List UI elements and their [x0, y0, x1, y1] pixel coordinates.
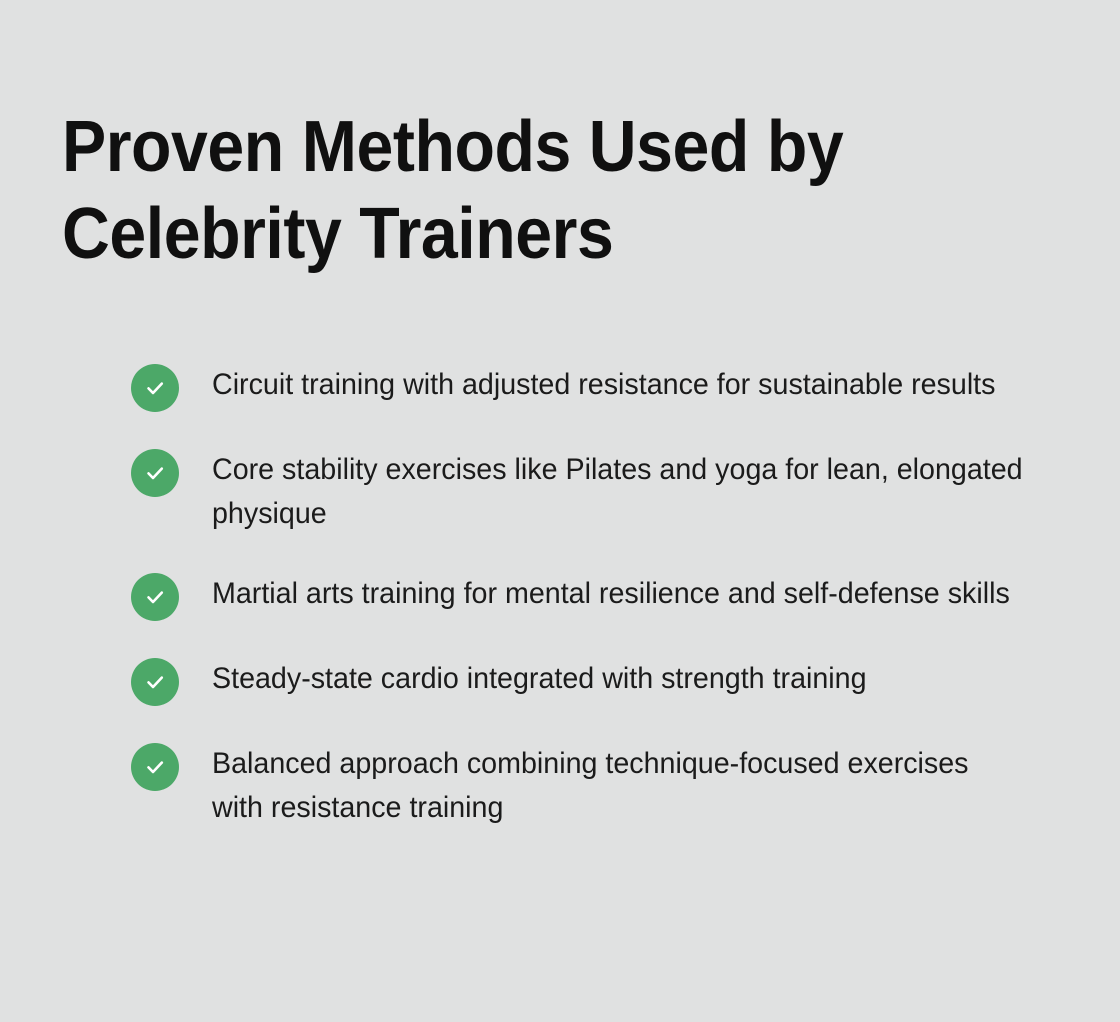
slide-root: Proven Methods Used by Celebrity Trainer… — [0, 0, 1120, 1022]
list-item: Martial arts training for mental resilie… — [131, 571, 1061, 621]
list-item: Core stability exercises like Pilates an… — [131, 447, 1061, 536]
list-item-label: Steady-state cardio integrated with stre… — [212, 656, 1023, 701]
methods-list: Circuit training with adjusted resistanc… — [131, 362, 1061, 830]
check-circle-icon — [131, 658, 179, 706]
check-circle-icon — [131, 573, 179, 621]
check-circle-icon — [131, 743, 179, 791]
list-item-label: Core stability exercises like Pilates an… — [212, 447, 1023, 536]
list-item: Steady-state cardio integrated with stre… — [131, 656, 1061, 706]
check-circle-icon — [131, 364, 179, 412]
list-item-label: Balanced approach combining technique-fo… — [212, 741, 1023, 830]
list-item-label: Martial arts training for mental resilie… — [212, 571, 1023, 616]
check-circle-icon — [131, 449, 179, 497]
list-item-label: Circuit training with adjusted resistanc… — [212, 362, 1023, 407]
list-item: Balanced approach combining technique-fo… — [131, 741, 1061, 830]
list-item: Circuit training with adjusted resistanc… — [131, 362, 1061, 412]
page-title: Proven Methods Used by Celebrity Trainer… — [62, 104, 890, 278]
